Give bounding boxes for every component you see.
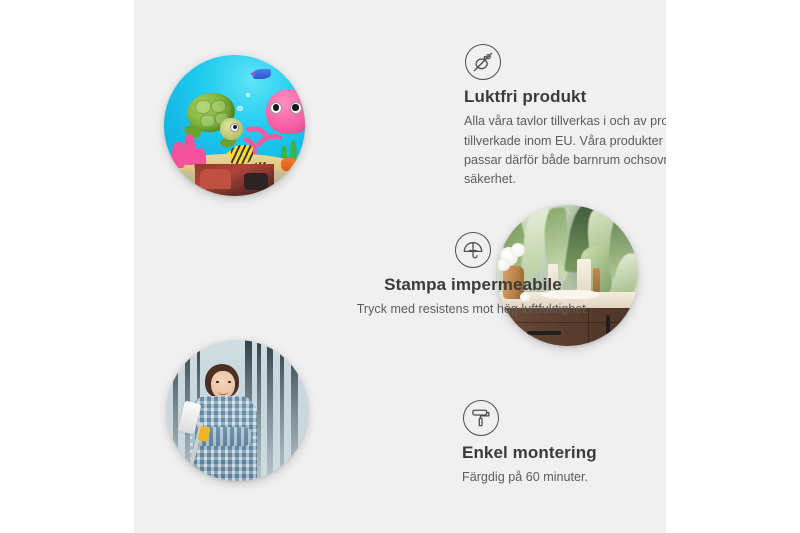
feature-title: Stampa impermeabile xyxy=(349,275,597,295)
paint-roller-icon xyxy=(463,400,499,436)
room-photo-inset xyxy=(195,164,274,196)
feature-description: Färgdig på 60 minuter. xyxy=(462,468,666,487)
feature-description: Tryck med resistens mot hög luftfuktighe… xyxy=(349,300,597,319)
product-feature-infographic: Luktfri produkt Alla våra tavlor tillver… xyxy=(0,0,800,533)
feature-title: Luktfri produkt xyxy=(464,87,666,107)
turtle-scute xyxy=(193,99,211,115)
turtle-scute xyxy=(198,113,215,128)
woman-smile xyxy=(218,389,228,394)
blue-fish-tail-icon xyxy=(250,71,255,77)
feature-description: Alla våra tavlor tillverkas i och av pro… xyxy=(464,112,666,189)
yellow-fish-icon xyxy=(230,145,253,163)
woman-with-paint-roller-photo xyxy=(167,340,308,481)
feature-title: Enkel montering xyxy=(462,443,666,463)
cabinet-handle xyxy=(606,315,610,335)
underwater-kids-mural-photo xyxy=(164,55,305,196)
feature-easy-mounting: Enkel montering Färgdig på 60 minuter. xyxy=(462,400,666,488)
woman-eye xyxy=(228,381,231,383)
cabinet-handle xyxy=(527,331,561,335)
feature-water-resistant: Stampa impermeabile Tryck med resistens … xyxy=(349,232,597,320)
yellow-fish-tail-icon xyxy=(226,150,231,158)
coral-icon xyxy=(180,148,203,156)
umbrella-icon xyxy=(455,232,491,268)
feature-odour-free: Luktfri produkt Alla våra tavlor tillver… xyxy=(464,44,666,189)
cabinet-seam xyxy=(505,322,638,324)
content-panel: Luktfri produkt Alla våra tavlor tillver… xyxy=(134,0,666,533)
no-odour-icon xyxy=(465,44,501,80)
woman-face xyxy=(211,371,235,399)
blue-fish-icon xyxy=(253,69,271,79)
